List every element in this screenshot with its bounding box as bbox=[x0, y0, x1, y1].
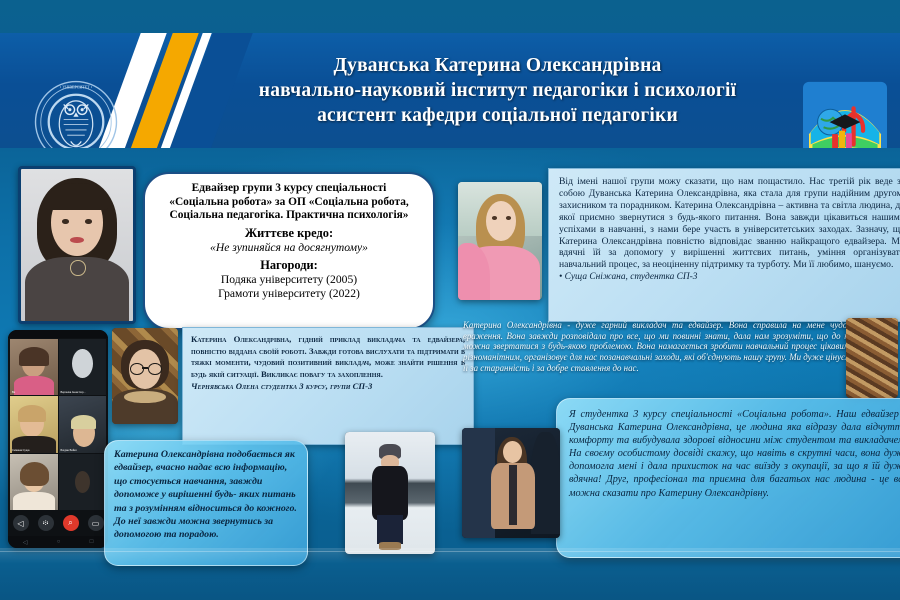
credo-heading: Життєве кредо: bbox=[155, 226, 423, 241]
testimonial-signature: Чернявська Олена студентка 3 курсу, груп… bbox=[191, 381, 465, 391]
nav-recents-icon[interactable]: □ bbox=[90, 539, 94, 545]
award-item-1: Подяка університету (2005) bbox=[155, 273, 423, 288]
camera-button[interactable]: ▭ bbox=[88, 515, 104, 531]
nav-home-icon[interactable]: ○ bbox=[57, 539, 61, 545]
title-line-3: асистент кафедри соціальної педагогіки bbox=[215, 103, 780, 128]
page-title: Дуванська Катерина Олександрівна навчаль… bbox=[215, 53, 780, 128]
participant-name: Ви bbox=[12, 391, 15, 394]
footer-hairline bbox=[0, 551, 900, 552]
slide-page: • УНІВЕРСИТЕТ • ІМЕНІ Г.С.СКОВОРОДИ Дува… bbox=[0, 0, 900, 600]
video-call-controls: ◁ ፨ ⌕ ▭ bbox=[8, 510, 108, 536]
phone-nav-bar: ◁ ○ □ bbox=[8, 536, 108, 548]
title-line-2: навчально-науковий інститут педагогіки і… bbox=[215, 78, 780, 103]
testimonial-cherniavska: Катерина Олександрівна, гідний приклад в… bbox=[182, 327, 474, 445]
credo-text: «Не зупиняйся на досягнутому» bbox=[155, 241, 423, 255]
testimonial-impression: Катерина Олександрівна - дуже гарний вик… bbox=[455, 316, 863, 402]
awards-heading: Нагороди: bbox=[155, 258, 423, 273]
photo-fur bbox=[846, 318, 898, 398]
video-tile[interactable] bbox=[10, 454, 58, 510]
testimonial-text: Катерина Олександрівна - дуже гарний вик… bbox=[463, 320, 855, 374]
testimonial-signature: • Суща Сніжана, студентка СП-3 bbox=[559, 272, 900, 282]
participant-name: Вероніка Анна Сер... bbox=[61, 391, 86, 394]
page-header: • УНІВЕРСИТЕТ • ІМЕНІ Г.С.СКОВОРОДИ Дува… bbox=[0, 33, 900, 148]
photo-phonecall: Ви Вероніка Анна Сер... Сніжана Суща Бог… bbox=[8, 330, 108, 548]
photo-woman-glasses bbox=[112, 328, 178, 424]
university-owl-seal-icon: • УНІВЕРСИТЕТ • ІМЕНІ Г.С.СКОВОРОДИ bbox=[32, 78, 120, 148]
video-tile[interactable]: Вероніка Анна Сер... bbox=[59, 339, 107, 395]
testimonial-text: Катерина Олександрівна, гідний приклад в… bbox=[191, 334, 465, 380]
advisor-role-line-3: Соціальна педагогіка. Практична психолог… bbox=[155, 209, 423, 223]
testimonial-third-year-student: Я студентка 3 курсу спеціальності «Соціа… bbox=[556, 398, 900, 558]
photo-coat bbox=[462, 428, 560, 538]
speaker-button[interactable]: ◁ bbox=[13, 515, 29, 531]
video-tile[interactable]: Ви bbox=[10, 339, 58, 395]
advisor-role-line-1: Едвайзер групи 3 курсу спеціальності bbox=[155, 182, 423, 196]
video-tile[interactable]: Богдан Бойко bbox=[59, 396, 107, 452]
testimonial-susha: Від імені нашої групи можу сказати, що н… bbox=[548, 168, 900, 322]
video-call-grid: Ви Вероніка Анна Сер... Сніжана Суща Бог… bbox=[10, 339, 106, 510]
video-tile[interactable]: Сніжана Суща bbox=[10, 396, 58, 452]
institute-emblem-icon: Навчально-науковий інститут педагогіки і… bbox=[802, 81, 888, 148]
title-line-1: Дуванська Катерина Олександрівна bbox=[215, 53, 780, 78]
testimonial-likes-advisor: Катерина Олександрівна подобається як ед… bbox=[104, 440, 308, 566]
photo-student-pink bbox=[458, 182, 542, 300]
advisor-role-line-2: «Соціальна робота» за ОП «Соціальна робо… bbox=[155, 196, 423, 210]
testimonial-text: Я студентка 3 курсу спеціальності «Соціа… bbox=[569, 408, 900, 500]
nav-back-icon[interactable]: ◁ bbox=[23, 539, 28, 546]
photo-advisor bbox=[18, 166, 136, 324]
photo-winter bbox=[345, 432, 435, 554]
testimonial-text: Катерина Олександрівна подобається як ед… bbox=[114, 448, 298, 542]
advisor-info-card: Едвайзер групи 3 курсу спеціальності «Со… bbox=[143, 172, 435, 330]
participant-name: Сніжана Суща bbox=[12, 449, 29, 452]
participant-name: Богдан Бойко bbox=[61, 449, 77, 452]
testimonial-text: Від імені нашої групи можу сказати, що н… bbox=[559, 176, 900, 271]
video-tile[interactable] bbox=[59, 454, 107, 510]
award-item-2: Грамоти університету (2022) bbox=[155, 287, 423, 302]
svg-text:• УНІВЕРСИТЕТ •: • УНІВЕРСИТЕТ • bbox=[60, 85, 93, 90]
end-call-button[interactable]: ⌕ bbox=[63, 515, 79, 531]
phone-status-bar bbox=[8, 330, 108, 338]
mute-button[interactable]: ፨ bbox=[38, 515, 54, 531]
